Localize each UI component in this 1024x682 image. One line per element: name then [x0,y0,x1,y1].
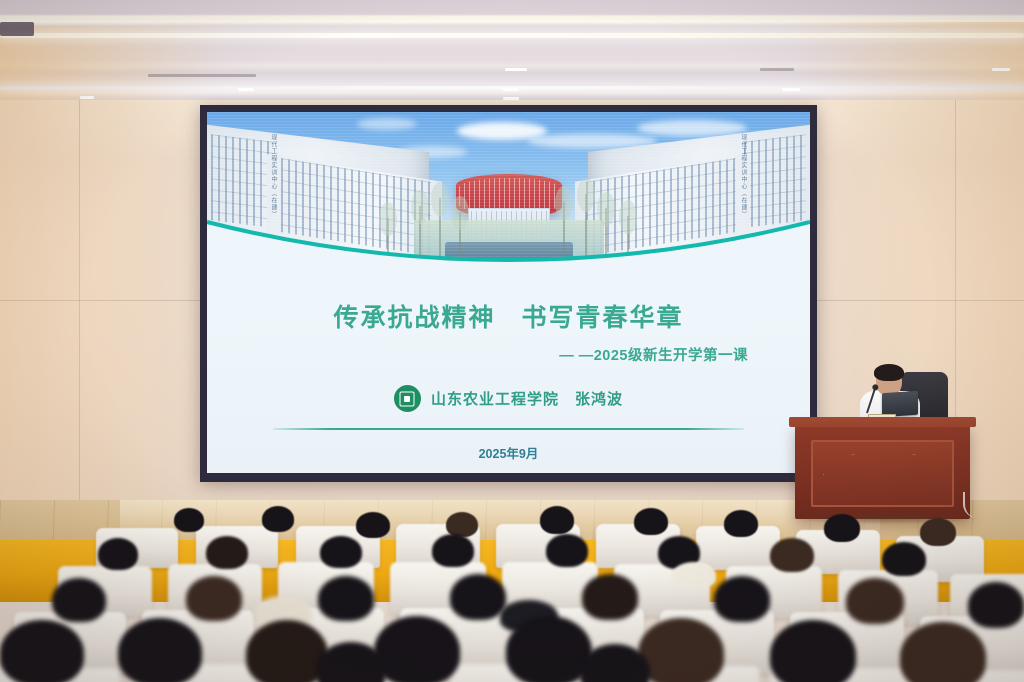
audience-head [546,534,588,567]
audience-head [540,506,574,534]
slide-text-area: 传承抗战精神书写青春华章 — —2025级新生开学第一课 山东农业工程学院张鸿波… [207,262,810,473]
slide-title-part1: 传承抗战精神 [333,304,495,332]
slide-org-and-speaker: 山东农业工程学院张鸿波 [431,388,623,409]
audience-cap [672,562,716,588]
audience-head [920,518,956,546]
slide-photo-label-left: 现代工程实训中心（在建） [269,134,278,218]
audience-head [724,510,758,537]
projection-screen[interactable]: 现代工程实训中心（在建） 现代工程实训中心（在建） 传承抗战精神书写青春华章 —… [207,112,810,473]
slide-organization: 山东农业工程学院 [431,391,559,408]
slide-speaker-name: 张鸿波 [575,391,623,408]
wall-panel-seam-h-left [0,300,200,301]
ceiling-downlight-6 [782,88,800,91]
audience-head [174,508,204,532]
university-seal-icon [394,385,421,412]
audience-head [52,578,106,622]
podium-diamond-carving [823,454,943,494]
slide-photo-label-right: 现代工程实训中心（在建） [739,134,748,218]
slide-title: 传承抗战精神书写青春华章 [207,298,810,334]
ceiling-seam-left [148,74,256,77]
slide-title-part2: 书写青春华章 [522,304,684,332]
ceiling-light-strip-upper [0,33,1024,38]
ceiling-downlight-2 [992,68,1010,71]
audience-head [374,616,460,682]
audience-head [0,620,84,682]
audience-head [846,578,904,624]
slide-divider-rule [273,428,743,430]
slide-organization-row: 山东农业工程学院张鸿波 [207,385,810,412]
audience-head [186,576,242,621]
audience-head [320,536,362,568]
ceiling-vent [0,22,34,36]
audience-head [356,512,390,538]
ceiling [0,0,1024,112]
ceiling-downlight-1 [505,68,527,71]
audience-head [118,618,202,682]
speaker-hair [874,364,904,381]
audience-head [634,508,668,535]
audience-head [714,576,770,622]
audience-head [206,536,248,569]
lecture-hall-scene: 现代工程实训中心（在建） 现代工程实训中心（在建） 传承抗战精神书写青春华章 —… [0,0,1024,682]
ceiling-downlight-3 [238,88,254,91]
projection-screen-frame: 现代工程实训中心（在建） 现代工程实训中心（在建） 传承抗战精神书写青春华章 —… [200,105,817,482]
audience-head [882,542,926,576]
slide-subtitle: — —2025级新生开学第一课 [207,344,810,365]
audience-head [98,538,138,570]
wall-warm-left [0,100,230,518]
wall-panel-seam-v-1 [79,100,80,518]
wall-panel-seam-h-right [817,300,1024,301]
audience-head [582,574,638,620]
podium-top-edge [789,417,976,427]
ceiling-seam-right [760,68,794,71]
audience-head [824,514,860,542]
ceiling-downlight-4 [503,88,519,91]
audience-area [0,492,1024,682]
audience-head [638,618,724,682]
slide-date: 2025年9月 [207,443,810,462]
audience-head [968,582,1024,628]
audience-head [770,620,856,682]
audience-head [450,574,506,620]
audience-head [262,506,294,532]
audience-head [318,576,374,621]
ceiling-downlight-7 [80,96,94,99]
audience-head [432,534,474,567]
audience-head [770,538,814,572]
